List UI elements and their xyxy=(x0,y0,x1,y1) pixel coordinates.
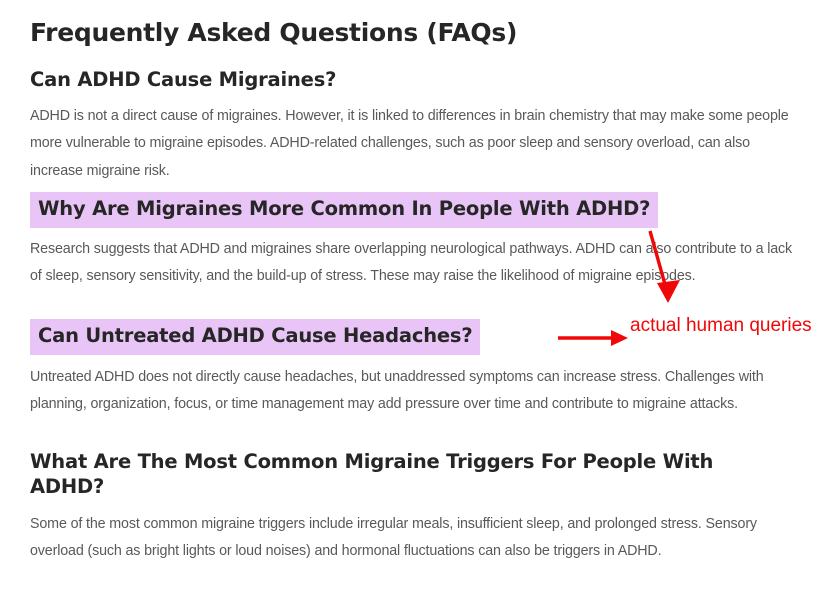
faq-answer-text-3: Untreated ADHD does not directly cause h… xyxy=(30,364,790,419)
page-title: Frequently Asked Questions (FAQs) xyxy=(30,18,517,47)
annotation-label-text: actual human queries xyxy=(630,315,812,336)
faq-answer-text-2: Research suggests that ADHD and migraine… xyxy=(30,236,796,291)
faq-question-highlight-wrap-3: Can Untreated ADHD Cause Headaches? xyxy=(30,319,480,355)
faq-answer-text-1: ADHD is not a direct cause of migraines.… xyxy=(30,103,792,185)
horizontal-arrow-icon xyxy=(558,330,628,346)
faq-question-heading-4: What Are The Most Common Migraine Trigge… xyxy=(30,450,770,500)
faq-question-heading-3: Can Untreated ADHD Cause Headaches? xyxy=(30,319,480,355)
faq-article: Frequently Asked Questions (FAQs) Can AD… xyxy=(0,0,840,600)
faq-question-highlight-wrap-2: Why Are Migraines More Common In People … xyxy=(30,192,658,228)
faq-answer-text-4: Some of the most common migraine trigger… xyxy=(30,511,790,566)
annotation-label: actual human queries xyxy=(630,313,810,338)
faq-question-heading-2: Why Are Migraines More Common In People … xyxy=(30,192,658,228)
faq-question-heading-1: Can ADHD Cause Migraines? xyxy=(30,68,336,93)
